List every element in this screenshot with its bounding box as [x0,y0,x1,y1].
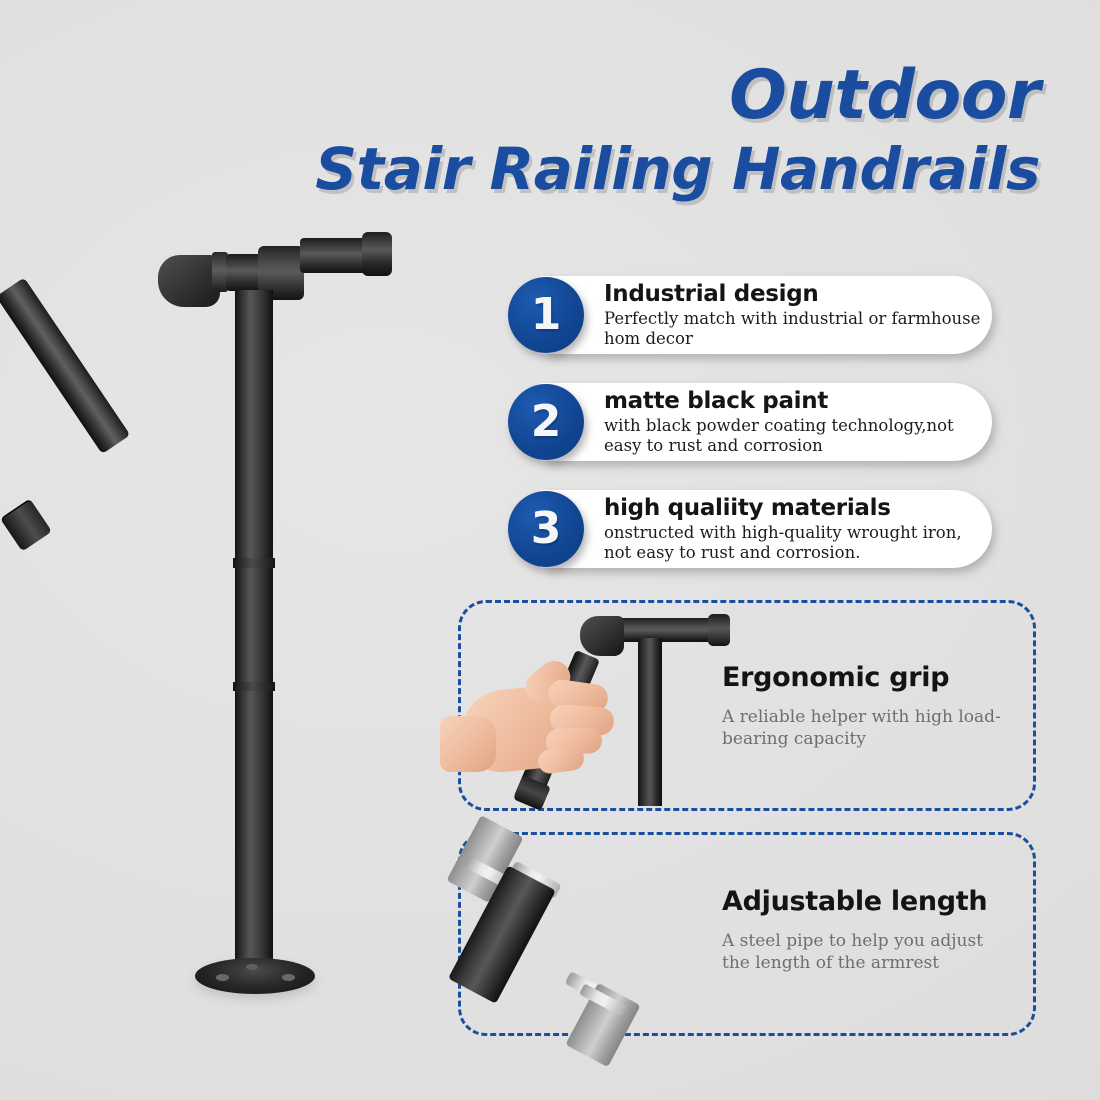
feature-title: matte black paint [604,389,984,415]
panel-title: Ergonomic grip [722,662,1002,693]
diagonal-grip-pipe [0,277,130,454]
panel-body: A reliable helper with high load-bearing… [722,706,1002,750]
telescoping-steel-pipe-image [455,830,715,1035]
feature-title: high qualiity materials [604,496,984,522]
hex-nut-cap [362,232,392,276]
grip-vertical-pipe [638,638,662,806]
flange-bolt-hole [246,964,258,970]
feature-number: 1 [531,293,562,337]
grip-elbow-joint [580,616,624,656]
feature-body: onstructed with high-quality wrought iro… [604,523,984,564]
feature-text-block: matte black paint with black powder coat… [604,389,984,457]
feature-number-badge: 2 [508,384,584,460]
feature-number-badge: 3 [508,491,584,567]
infographic-page: Outdoor Stair Railing Handrails [0,0,1100,1100]
post-coupling-upper [233,558,275,568]
flange-bolt-hole [282,974,295,981]
feature-title: Industrial design [604,282,984,308]
title-line-1: Outdoor [300,62,1040,130]
title-line-2: Stair Railing Handrails [300,140,1040,198]
post-coupling-lower [233,682,275,691]
feature-body: with black powder coating technology,not… [604,416,984,457]
panel-body: A steel pipe to help you adjust the leng… [722,930,1012,974]
end-cap-icon [0,498,52,551]
elbow-joint [158,255,220,307]
upper-link-pipe [226,254,262,291]
feature-number-badge: 1 [508,277,584,353]
feature-number: 3 [531,507,562,551]
vertical-post [235,290,273,970]
feature-text-block: Industrial design Perfectly match with i… [604,282,984,350]
feature-body: Perfectly match with industrial or farmh… [604,309,984,350]
grip-hex-cap-icon [708,614,730,646]
feature-text-block: high qualiity materials onstructed with … [604,496,984,564]
page-title: Outdoor Stair Railing Handrails [300,62,1040,198]
panel-2-text: Adjustable length A steel pipe to help y… [722,886,1012,974]
hero-product-image [0,210,440,1040]
hand-wrist [440,716,496,772]
feature-number: 2 [531,400,562,444]
panel-1-text: Ergonomic grip A reliable helper with hi… [722,662,1002,750]
panel-title: Adjustable length [722,886,1012,917]
floor-flange-base [195,958,315,994]
hand-gripping-handrail-image [462,608,712,808]
flange-bolt-hole [216,974,229,981]
